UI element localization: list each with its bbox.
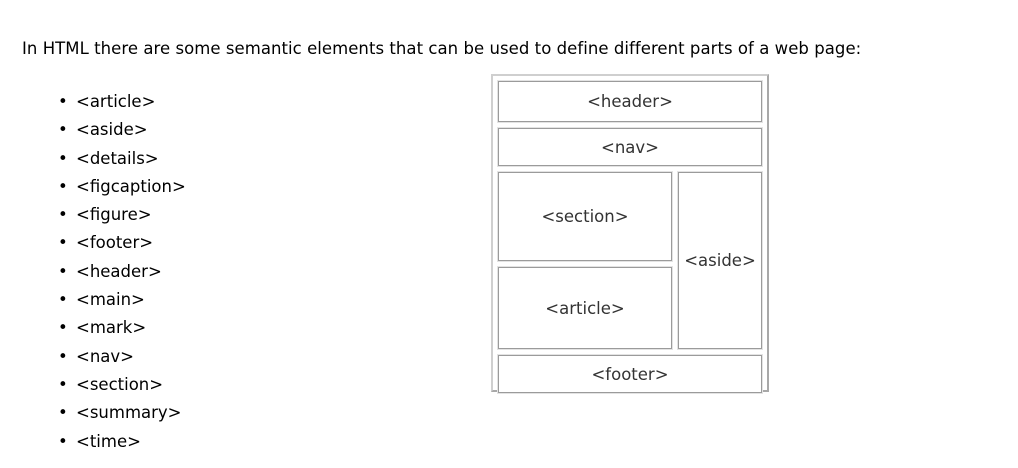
list-bullet-icon: •	[58, 88, 68, 116]
intro-paragraph: In HTML there are some semantic elements…	[22, 39, 861, 59]
list-item: • <time>	[58, 428, 186, 456]
list-item-label: <footer>	[76, 233, 153, 252]
diagram-box-header: <header>	[498, 81, 762, 122]
list-bullet-icon: •	[58, 229, 68, 257]
list-item: • <main>	[58, 286, 186, 314]
list-bullet-icon: •	[58, 343, 68, 371]
diagram-box-article: <article>	[498, 267, 672, 349]
list-bullet-icon: •	[58, 399, 68, 427]
list-bullet-icon: •	[58, 116, 68, 144]
diagram-main-column: <section> <article>	[498, 172, 672, 349]
list-item-label: <section>	[76, 375, 163, 394]
diagram-box-nav: <nav>	[498, 128, 762, 166]
list-item: • <figure>	[58, 201, 186, 229]
list-item: • <article>	[58, 88, 186, 116]
list-item: • <nav>	[58, 343, 186, 371]
diagram-box-aside: <aside>	[678, 172, 762, 349]
diagram-box-footer-label: <footer>	[591, 365, 668, 384]
list-bullet-icon: •	[58, 314, 68, 342]
list-item: • <summary>	[58, 399, 186, 427]
diagram-box-footer: <footer>	[498, 355, 762, 393]
diagram-box-aside-label: <aside>	[684, 251, 756, 270]
list-item: • <details>	[58, 145, 186, 173]
list-item-label: <article>	[76, 92, 155, 111]
list-item: • <section>	[58, 371, 186, 399]
list-bullet-icon: •	[58, 145, 68, 173]
list-item-label: <header>	[76, 262, 162, 281]
diagram-box-nav-label: <nav>	[601, 138, 659, 157]
diagram-box-article-label: <article>	[545, 299, 624, 318]
list-item-label: <main>	[76, 290, 145, 309]
diagram-box-header-label: <header>	[587, 92, 673, 111]
list-bullet-icon: •	[58, 428, 68, 456]
list-item-label: <nav>	[76, 347, 134, 366]
list-bullet-icon: •	[58, 286, 68, 314]
list-item: • <footer>	[58, 229, 186, 257]
semantic-elements-list: • <article> • <aside> • <details> • <fig…	[40, 88, 186, 456]
diagram-middle-row: <section> <article> <aside>	[498, 172, 762, 349]
diagram-box-section-label: <section>	[541, 207, 628, 226]
list-bullet-icon: •	[58, 258, 68, 286]
list-item-label: <aside>	[76, 120, 148, 139]
list-item-label: <figure>	[76, 205, 152, 224]
list-bullet-icon: •	[58, 201, 68, 229]
list-bullet-icon: •	[58, 371, 68, 399]
list-item: • <figcaption>	[58, 173, 186, 201]
semantic-layout-diagram: <header> <nav> <section> <article> <asid…	[491, 74, 769, 392]
list-item-label: <figcaption>	[76, 177, 186, 196]
list-item-label: <mark>	[76, 318, 146, 337]
list-item-label: <details>	[76, 149, 159, 168]
list-bullet-icon: •	[58, 173, 68, 201]
list-item: • <aside>	[58, 116, 186, 144]
list-item-label: <summary>	[76, 403, 182, 422]
list-item-label: <time>	[76, 432, 141, 451]
list-item: • <header>	[58, 258, 186, 286]
list-item: • <mark>	[58, 314, 186, 342]
diagram-box-section: <section>	[498, 172, 672, 261]
